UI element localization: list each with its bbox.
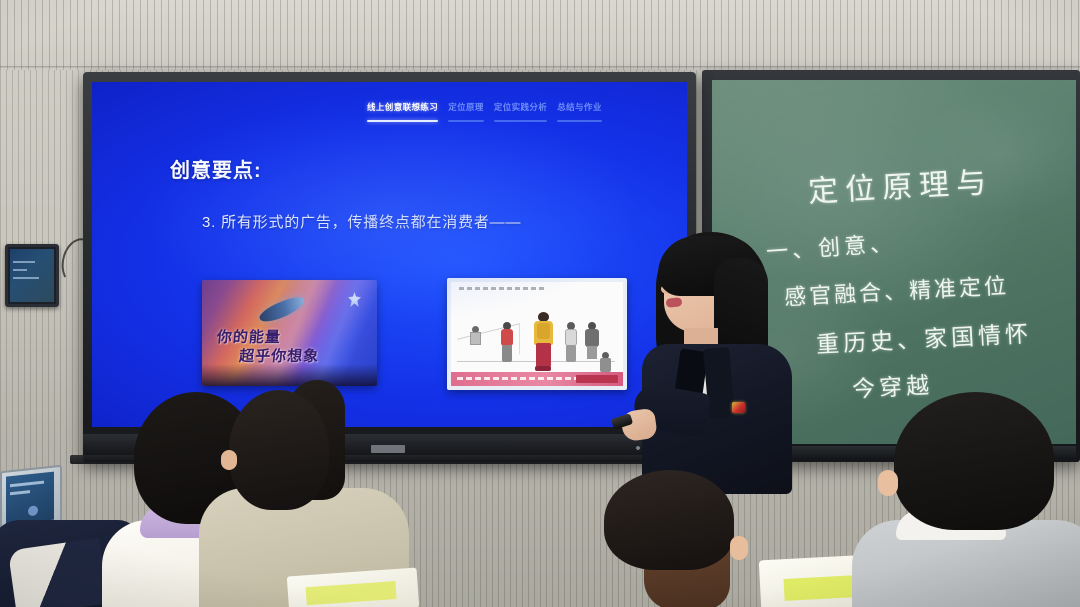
slide-nav-tab-1-underline: [367, 120, 438, 122]
sketch-banner: [451, 372, 623, 386]
laptop-screen-line: [10, 481, 44, 488]
slide-body-line: 3. 所有形式的广告，传播终点都在消费者——: [202, 211, 521, 232]
figure-torso: [600, 358, 611, 372]
sketch-caption-line: [459, 287, 545, 290]
figure-torso: [585, 329, 599, 347]
wall-upper-band: [0, 0, 1080, 70]
slide-nav-tab-4-underline: [557, 120, 602, 122]
student-ear: [878, 470, 898, 496]
slide-nav-tab-3-label: 定位实践分析: [494, 102, 547, 113]
wall-control-panel[interactable]: [5, 244, 59, 307]
panel-line: [13, 269, 27, 271]
slide-nav-tab-2[interactable]: 定位原理: [448, 102, 484, 122]
slide-nav-tab-4[interactable]: 总结与作业: [557, 102, 602, 122]
energy-ad-thumbnail[interactable]: 你的能量 超乎你想象: [202, 280, 377, 386]
figure-legs: [587, 346, 597, 359]
slide-nav-tab-3[interactable]: 定位实践分析: [494, 102, 547, 122]
sketch-figure-right: [563, 322, 579, 364]
student-hair: [229, 390, 329, 510]
figure-torso: [470, 332, 481, 345]
slide-nav-tab-1[interactable]: 线上创意联想练习: [367, 102, 438, 122]
figure-legs: [566, 345, 576, 362]
figure-legs: [536, 343, 551, 367]
panel-line: [13, 277, 39, 279]
laptop-screen-dot: [28, 505, 38, 516]
student-hair: [894, 392, 1054, 530]
slide-nav-tab-1-label: 线上创意联想练习: [367, 102, 438, 113]
figure-torso: [501, 329, 513, 346]
student-right: [866, 392, 1080, 607]
figure-shoes: [535, 366, 551, 371]
wall-control-panel-screen: [10, 249, 54, 302]
ad-headline-line2: 超乎你想象: [238, 347, 320, 366]
figure-legs: [502, 345, 512, 362]
laptop-screen-line: [10, 490, 30, 495]
ad-headline-line1: 你的能量: [216, 329, 282, 346]
worksheet-highlight: [306, 581, 397, 605]
presentation-slide: 线上创意联想练习 定位原理 定位实践分析 总结与作业: [92, 82, 687, 427]
slide-heading: 创意要点:: [170, 154, 262, 183]
slide-nav-tab-3-underline: [494, 120, 547, 122]
figure-torso: [565, 329, 577, 346]
student-ear: [730, 536, 748, 560]
panel-line: [13, 261, 35, 263]
ad-headline: 你的能量 超乎你想象: [214, 328, 321, 366]
sketch-illustration-thumbnail[interactable]: [447, 278, 627, 390]
sketch-banner-text: [457, 377, 577, 380]
teacher-presenting: [628, 232, 818, 492]
sketch-figure-left: [499, 322, 515, 364]
slide-nav-tab-2-underline: [448, 120, 484, 122]
student-jacket-stripe: [8, 538, 108, 607]
laptop-screen: [6, 472, 54, 525]
figure-backpack: [537, 323, 550, 339]
sketch-figure-far-left: [469, 326, 483, 352]
student-ear: [221, 450, 237, 470]
slide-nav-tab-2-label: 定位原理: [448, 102, 484, 113]
classroom-scene: 定位原理与 一、创意、 感官融合、精准定位 重历史、家国情怀 今穿越 线上创意联…: [0, 0, 1080, 607]
party-emblem-badge: [732, 402, 745, 413]
sketch-figure-main: [531, 312, 557, 374]
slide-nav[interactable]: 线上创意联想练习 定位原理 定位实践分析 总结与作业: [367, 102, 667, 132]
wall-seam: [0, 66, 1080, 69]
sketch-banner-tag: [576, 375, 618, 383]
sketch-page: [451, 282, 623, 386]
panel-screen[interactable]: 线上创意联想练习 定位原理 定位实践分析 总结与作业: [92, 82, 687, 427]
student-hair: [604, 470, 734, 570]
slide-nav-tab-4-label: 总结与作业: [557, 102, 602, 113]
